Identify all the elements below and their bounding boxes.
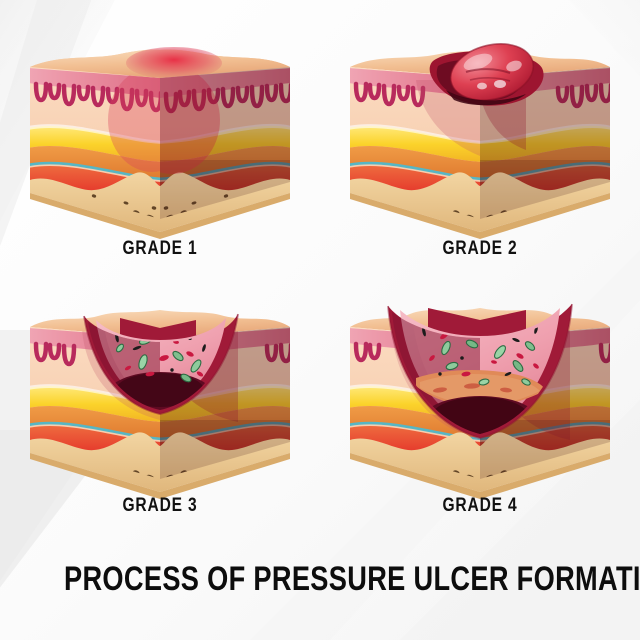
- grade-1-label: GRADE 1: [29, 238, 291, 260]
- grade-cell-3[interactable]: GRADE 3: [0, 270, 320, 550]
- erythema-patch-1: [108, 66, 220, 174]
- grade-cell-1[interactable]: GRADE 1: [0, 10, 320, 290]
- illustration-canvas: GRADE 1: [0, 0, 640, 640]
- grade-3-illustration: [0, 270, 320, 500]
- page-title: PROCESS OF PRESSURE ULCER FORMATION: [64, 560, 576, 599]
- grade-grid: GRADE 1: [0, 0, 640, 640]
- grade-2-label: GRADE 2: [349, 238, 611, 260]
- grade-2-illustration: [320, 10, 640, 240]
- grade-4-label: GRADE 4: [349, 495, 611, 517]
- grade-4-illustration: [320, 270, 640, 500]
- grade-1-illustration: [0, 10, 320, 240]
- grade-3-label: GRADE 3: [29, 495, 291, 517]
- grade-cell-4[interactable]: GRADE 4: [320, 270, 640, 550]
- grade-cell-2[interactable]: GRADE 2: [320, 10, 640, 290]
